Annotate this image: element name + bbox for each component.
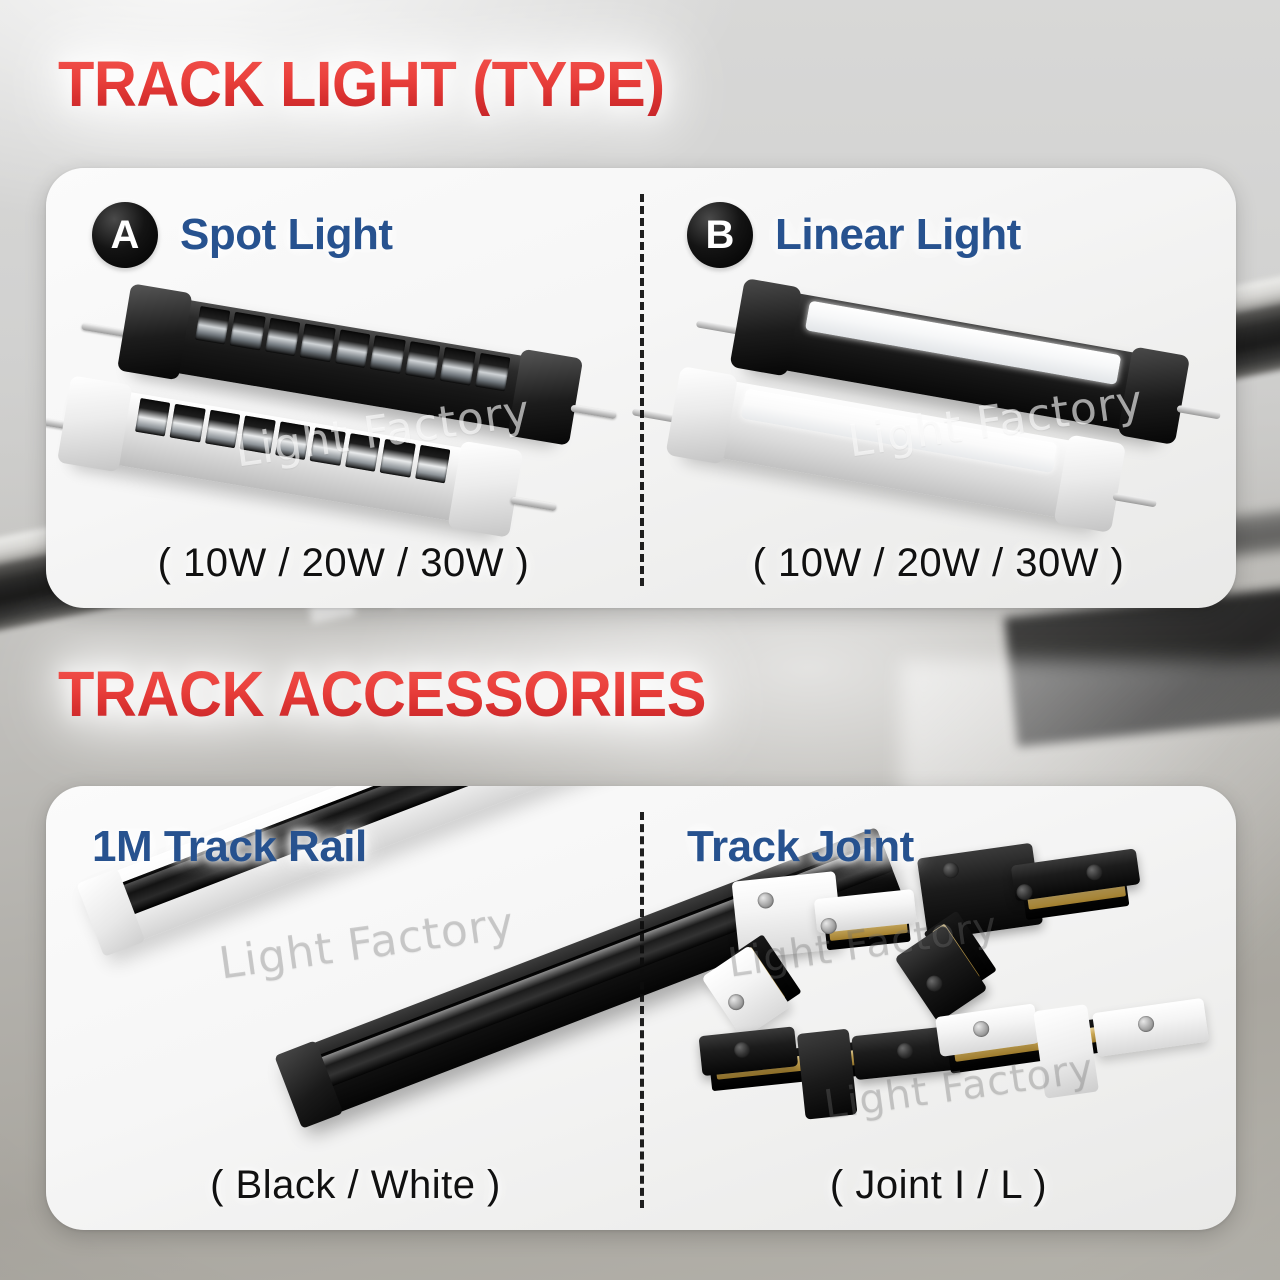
section-heading-track-accessories: TRACK ACCESSORIES xyxy=(58,662,706,726)
linear-light-title: Linear Light xyxy=(775,210,1021,260)
mounting-pin-icon xyxy=(570,405,617,419)
badge-b: B xyxy=(687,202,753,268)
watermark: Light Factory xyxy=(216,898,518,990)
mounting-pin-icon xyxy=(1112,493,1157,508)
track-joint-title-row: Track Joint xyxy=(687,822,914,872)
spot-light-white-endcap-right xyxy=(447,441,523,538)
track-rail-variant-caption: ( Black / White ) xyxy=(58,1163,653,1208)
mounting-pin-icon xyxy=(696,320,741,335)
card-track-accessories: Light Factory 1M Track Rail ( Black / Wh… xyxy=(46,786,1236,1230)
linear-light-wattage-caption: ( 10W / 20W / 30W ) xyxy=(641,541,1236,586)
track-rail-title-row: 1M Track Rail xyxy=(92,822,367,872)
card-panel-spot-light[interactable]: Light Factory A Spot Light ( 10W / 20W /… xyxy=(46,168,641,608)
spot-light-title-row: A Spot Light xyxy=(92,202,393,268)
card-panel-track-joint[interactable]: Light Factory Light Factory Track Joint … xyxy=(641,786,1236,1230)
mounting-pin-icon xyxy=(510,497,557,511)
card-divider xyxy=(640,194,644,586)
spot-light-black-endcap-right xyxy=(507,349,583,446)
spot-light-title: Spot Light xyxy=(180,210,393,260)
card-track-light-types: Light Factory A Spot Light ( 10W / 20W /… xyxy=(46,168,1236,608)
mounting-pin-icon xyxy=(81,323,128,337)
section-heading-track-light: TRACK LIGHT (TYPE) xyxy=(58,52,665,116)
card-panel-linear-light[interactable]: Light Factory B Linear Light ( 10W / 20W… xyxy=(641,168,1236,608)
track-joint-title: Track Joint xyxy=(687,822,914,872)
badge-a: A xyxy=(92,202,158,268)
spot-light-wattage-caption: ( 10W / 20W / 30W ) xyxy=(46,541,641,586)
track-joint-variant-caption: ( Joint I / L ) xyxy=(641,1163,1236,1208)
card-divider xyxy=(640,812,644,1208)
card-panel-track-rail[interactable]: Light Factory 1M Track Rail ( Black / Wh… xyxy=(46,786,641,1230)
linear-light-title-row: B Linear Light xyxy=(687,202,1021,268)
track-rail-title: 1M Track Rail xyxy=(92,822,367,872)
mounting-pin-icon xyxy=(1176,405,1221,420)
